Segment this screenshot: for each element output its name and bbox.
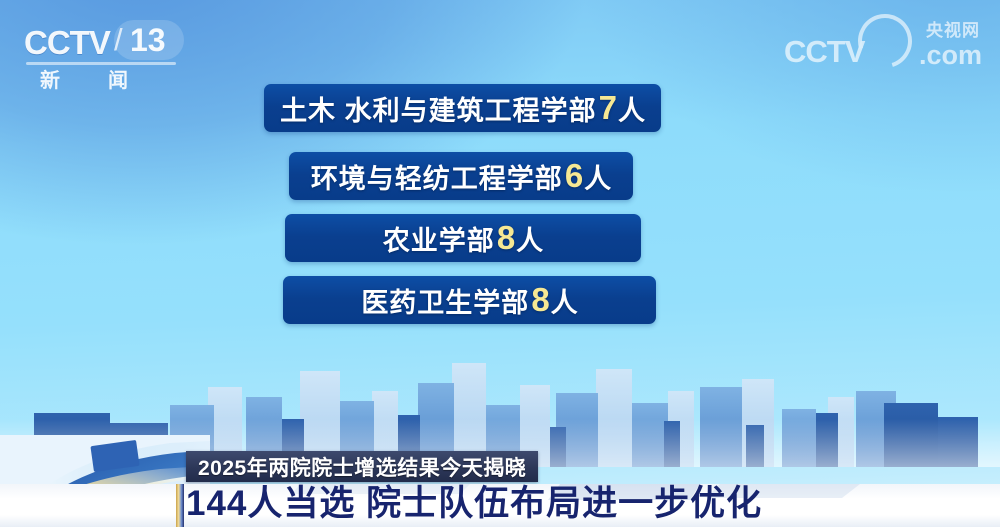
stat-unit: 人 [584, 157, 611, 196]
headline-text: 144人当选 院士队伍布局进一步优化 [186, 484, 762, 526]
stat-label: 环境与轻纺工程学部 [311, 157, 563, 196]
kicker-text: 2025年两院院士增选结果今天揭晓 [198, 452, 526, 482]
stat-bar-civil-engineering: 土木 水利与建筑工程学部 7 人 [264, 84, 661, 132]
stat-bar-agriculture: 农业学部 8 人 [285, 214, 641, 262]
stat-unit: 人 [618, 89, 645, 128]
stat-unit: 人 [551, 281, 578, 320]
kicker-bar: 2025年两院院士增选结果今天揭晓 [186, 451, 538, 482]
stat-label: 土木 水利与建筑工程学部 [280, 89, 597, 128]
statistics-bar-list: 土木 水利与建筑工程学部 7 人 环境与轻纺工程学部 6 人 农业学部 8 人 … [0, 0, 1000, 340]
stat-bar-medicine-health: 医药卫生学部 8 人 [283, 276, 656, 324]
stat-count: 8 [495, 219, 516, 257]
lower-third-edge-strip [176, 484, 184, 527]
stat-unit: 人 [516, 219, 543, 258]
headline-band: 144人当选 院士队伍布局进一步优化 [0, 484, 1000, 527]
stat-label: 医药卫生学部 [361, 281, 529, 320]
broadcast-screen: CCTV / 13 新 闻 CCTV 央视网 .com 土木 水利与建筑工程学部… [0, 0, 1000, 527]
stat-label: 农业学部 [383, 219, 495, 258]
stat-bar-environment-textile: 环境与轻纺工程学部 6 人 [289, 152, 633, 200]
stat-count: 7 [597, 89, 618, 127]
stat-count: 8 [529, 281, 550, 319]
stat-count: 6 [563, 157, 584, 195]
